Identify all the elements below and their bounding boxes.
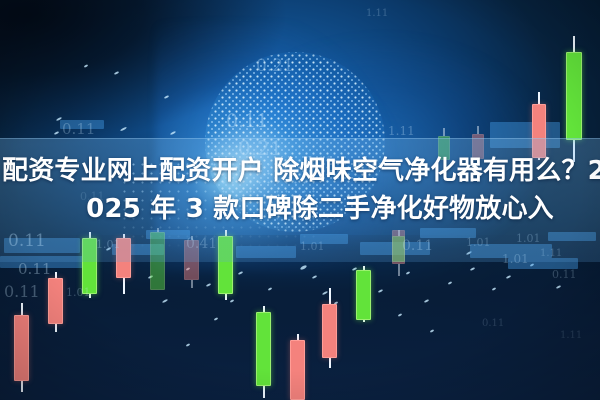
headline-band-edge [0, 138, 600, 139]
candlestick-body [322, 304, 337, 358]
candlestick-bearish [14, 303, 29, 392]
page-title: 配资专业网上配资开户 除烟味空气净化器有用么？2 025 年 3 款口碑除二手净… [0, 152, 600, 228]
candlestick-body [566, 52, 582, 140]
candlestick-bullish [356, 266, 371, 322]
headline-line-2: 025 年 3 款口碑除二手净化好物放心入 [0, 190, 600, 228]
banner-image: 0.110.210.110.211.111.113.110.111.010.11… [0, 0, 600, 400]
data-bar [60, 120, 104, 129]
candlestick-body [290, 340, 305, 400]
candlestick-body [48, 278, 63, 324]
candlestick-bearish [322, 288, 337, 368]
candlestick-bearish [48, 272, 63, 332]
headline-line-1: 配资专业网上配资开户 除烟味空气净化器有用么？2 [0, 152, 600, 190]
candlestick-bearish [290, 334, 305, 400]
candlestick-body [356, 270, 371, 320]
candlestick-body [14, 315, 29, 381]
candlestick-bullish [256, 306, 271, 398]
candlestick-body [256, 312, 271, 386]
